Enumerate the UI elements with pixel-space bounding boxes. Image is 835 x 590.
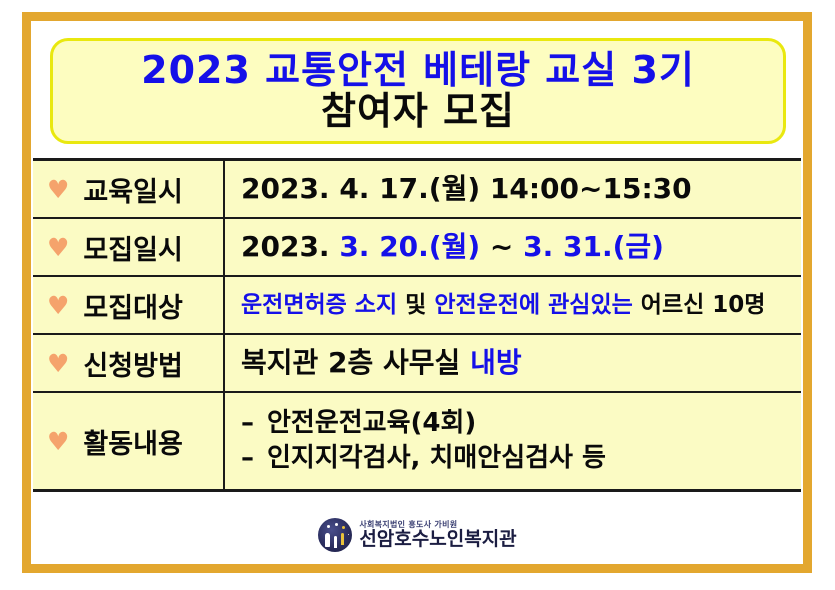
table-row: ♥ 모집일시 2023. 3. 20.(월) ~ 3. 31.(금) xyxy=(33,218,801,276)
value-segment: 복지관 2층 사무실 xyxy=(241,346,470,379)
row-label: 교육일시 xyxy=(83,170,182,209)
table-row: ♥ 활동내용 –안전운전교육(4회) –인지지각검사, 치매안심검사 등 xyxy=(33,392,801,491)
table-row: ♥ 모집대상 운전면허증 소지 및 안전운전에 관심있는 어르신 10명 xyxy=(33,276,801,334)
row-label: 모집대상 xyxy=(83,286,182,325)
activity-list: –안전운전교육(4회) –인지지각검사, 치매안심검사 등 xyxy=(241,409,801,473)
table-row: ♥ 교육일시 2023. 4. 17.(월) 14:00~15:30 xyxy=(33,160,801,219)
logo-organization-name: 선암호수노인복지관 xyxy=(359,530,516,549)
row-value: 복지관 2층 사무실 내방 xyxy=(241,347,801,379)
value-segment: 및 xyxy=(397,292,434,318)
heart-icon: ♥ xyxy=(47,235,69,260)
poster-title-line1: 2023 교통안전 베테랑 교실 3기 xyxy=(141,50,695,91)
value-segment: 어르신 10명 xyxy=(633,292,766,318)
row-value-cell: 2023. 4. 17.(월) 14:00~15:30 xyxy=(224,160,801,219)
value-segment: 2023. xyxy=(241,230,339,263)
row-value: 운전면허증 소지 및 안전운전에 관심있는 어르신 10명 xyxy=(241,292,801,318)
welfare-center-logo-icon xyxy=(318,518,352,552)
row-value: 2023. 3. 20.(월) ~ 3. 31.(금) xyxy=(241,231,801,263)
row-value: 2023. 4. 17.(월) 14:00~15:30 xyxy=(241,173,801,205)
row-value-cell: 복지관 2층 사무실 내방 xyxy=(224,334,801,392)
activity-text: 안전운전교육(4회) xyxy=(267,408,476,438)
row-label-cell: ♥ 신청방법 xyxy=(33,334,224,392)
row-label-cell: ♥ 모집대상 xyxy=(33,276,224,334)
table-row: ♥ 신청방법 복지관 2층 사무실 내방 xyxy=(33,334,801,392)
row-label-cell: ♥ 교육일시 xyxy=(33,160,224,219)
organization-logo: 사회복지법인 흥도사 가비원 선암호수노인복지관 xyxy=(0,518,835,552)
heart-icon: ♥ xyxy=(47,177,69,202)
value-segment: 2023. 4. 17.(월) 14:00~15:30 xyxy=(241,172,692,205)
value-segment: 안전운전에 관심있는 xyxy=(434,292,632,318)
value-segment: 3. 20.(월) xyxy=(339,230,480,263)
row-value-cell: –안전운전교육(4회) –인지지각검사, 치매안심검사 등 xyxy=(224,392,801,491)
dash-bullet: – xyxy=(241,409,267,438)
activity-item: –안전운전교육(4회) xyxy=(241,409,801,438)
activity-item: –인지지각검사, 치매안심검사 등 xyxy=(241,444,801,473)
poster-root: 2023 교통안전 베테랑 교실 3기 참여자 모집 ♥ 교육일시 2023. … xyxy=(0,0,835,590)
row-value-cell: 2023. 3. 20.(월) ~ 3. 31.(금) xyxy=(224,218,801,276)
row-label: 모집일시 xyxy=(83,228,182,267)
row-label: 활동내용 xyxy=(83,422,182,461)
heart-icon: ♥ xyxy=(47,429,69,454)
logo-text-block: 사회복지법인 흥도사 가비원 선암호수노인복지관 xyxy=(359,521,516,549)
value-segment: 운전면허증 소지 xyxy=(241,292,397,318)
poster-title-line2: 참여자 모집 xyxy=(321,91,515,132)
row-label-cell: ♥ 모집일시 xyxy=(33,218,224,276)
dash-bullet: – xyxy=(241,444,267,473)
heart-icon: ♥ xyxy=(47,293,69,318)
row-label-cell: ♥ 활동내용 xyxy=(33,392,224,491)
row-label: 신청방법 xyxy=(83,344,182,383)
heart-icon: ♥ xyxy=(47,351,69,376)
value-segment: 3. 31.(금) xyxy=(523,230,664,263)
info-table: ♥ 교육일시 2023. 4. 17.(월) 14:00~15:30 ♥ 모집일… xyxy=(33,158,801,492)
value-segment: 내방 xyxy=(470,346,522,379)
row-value-cell: 운전면허증 소지 및 안전운전에 관심있는 어르신 10명 xyxy=(224,276,801,334)
value-segment: ~ xyxy=(480,230,523,263)
activity-text: 인지지각검사, 치매안심검사 등 xyxy=(267,443,606,473)
title-banner: 2023 교통안전 베테랑 교실 3기 참여자 모집 xyxy=(50,38,786,144)
